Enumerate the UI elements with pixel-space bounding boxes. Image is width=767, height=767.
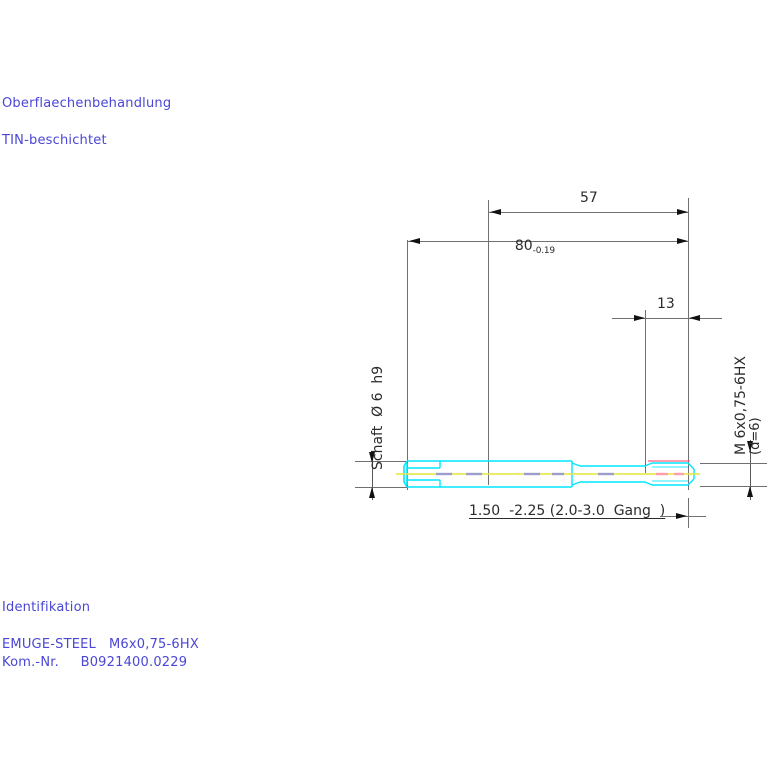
drawing-sheet: Oberflaechenbehandlung TIN-beschichtet I… [0,0,767,767]
tap-tool-geometry [0,0,767,767]
